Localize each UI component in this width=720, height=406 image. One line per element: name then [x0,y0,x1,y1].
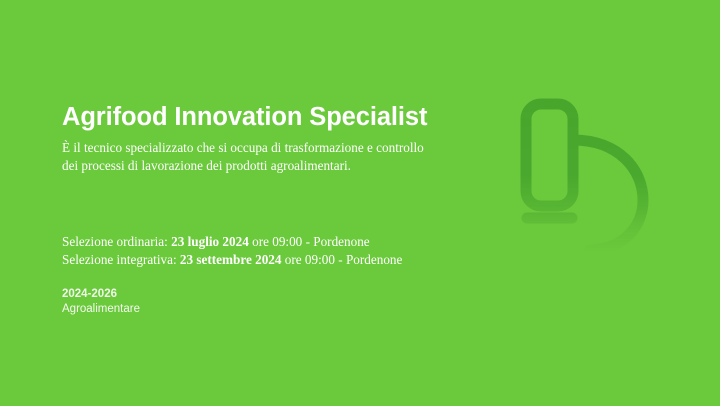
description-line-2: dei processi di lavorazione dei prodotti… [62,157,432,175]
selection-label-ordinaria: Selezione ordinaria: [62,234,171,249]
selection-detail-ordinaria: ore 09:00 - Pordenone [249,234,370,249]
selection-label-integrativa: Selezione integrativa: [62,252,180,267]
course-hero-card: Agrifood Innovation Specialist È il tecn… [0,0,720,406]
microscope-icon [486,78,676,253]
course-sector: Agroalimentare [62,302,140,317]
selection-row-ordinaria: Selezione ordinaria: 23 luglio 2024 ore … [62,233,462,251]
selection-dates: Selezione ordinaria: 23 luglio 2024 ore … [62,233,462,269]
page-title: Agrifood Innovation Specialist [62,103,427,132]
card-description: È il tecnico specializzato che si occupa… [62,139,432,175]
course-years: 2024-2026 [62,287,140,302]
description-line-1: È il tecnico specializzato che si occupa… [62,139,432,157]
selection-detail-integrativa: ore 09:00 - Pordenone [282,252,403,267]
selection-date-ordinaria: 23 luglio 2024 [171,234,249,249]
card-content: Agrifood Innovation Specialist È il tecn… [62,0,482,406]
selection-date-integrativa: 23 settembre 2024 [180,252,282,267]
card-footer: 2024-2026 Agroalimentare [62,287,140,317]
selection-row-integrativa: Selezione integrativa: 23 settembre 2024… [62,251,462,269]
